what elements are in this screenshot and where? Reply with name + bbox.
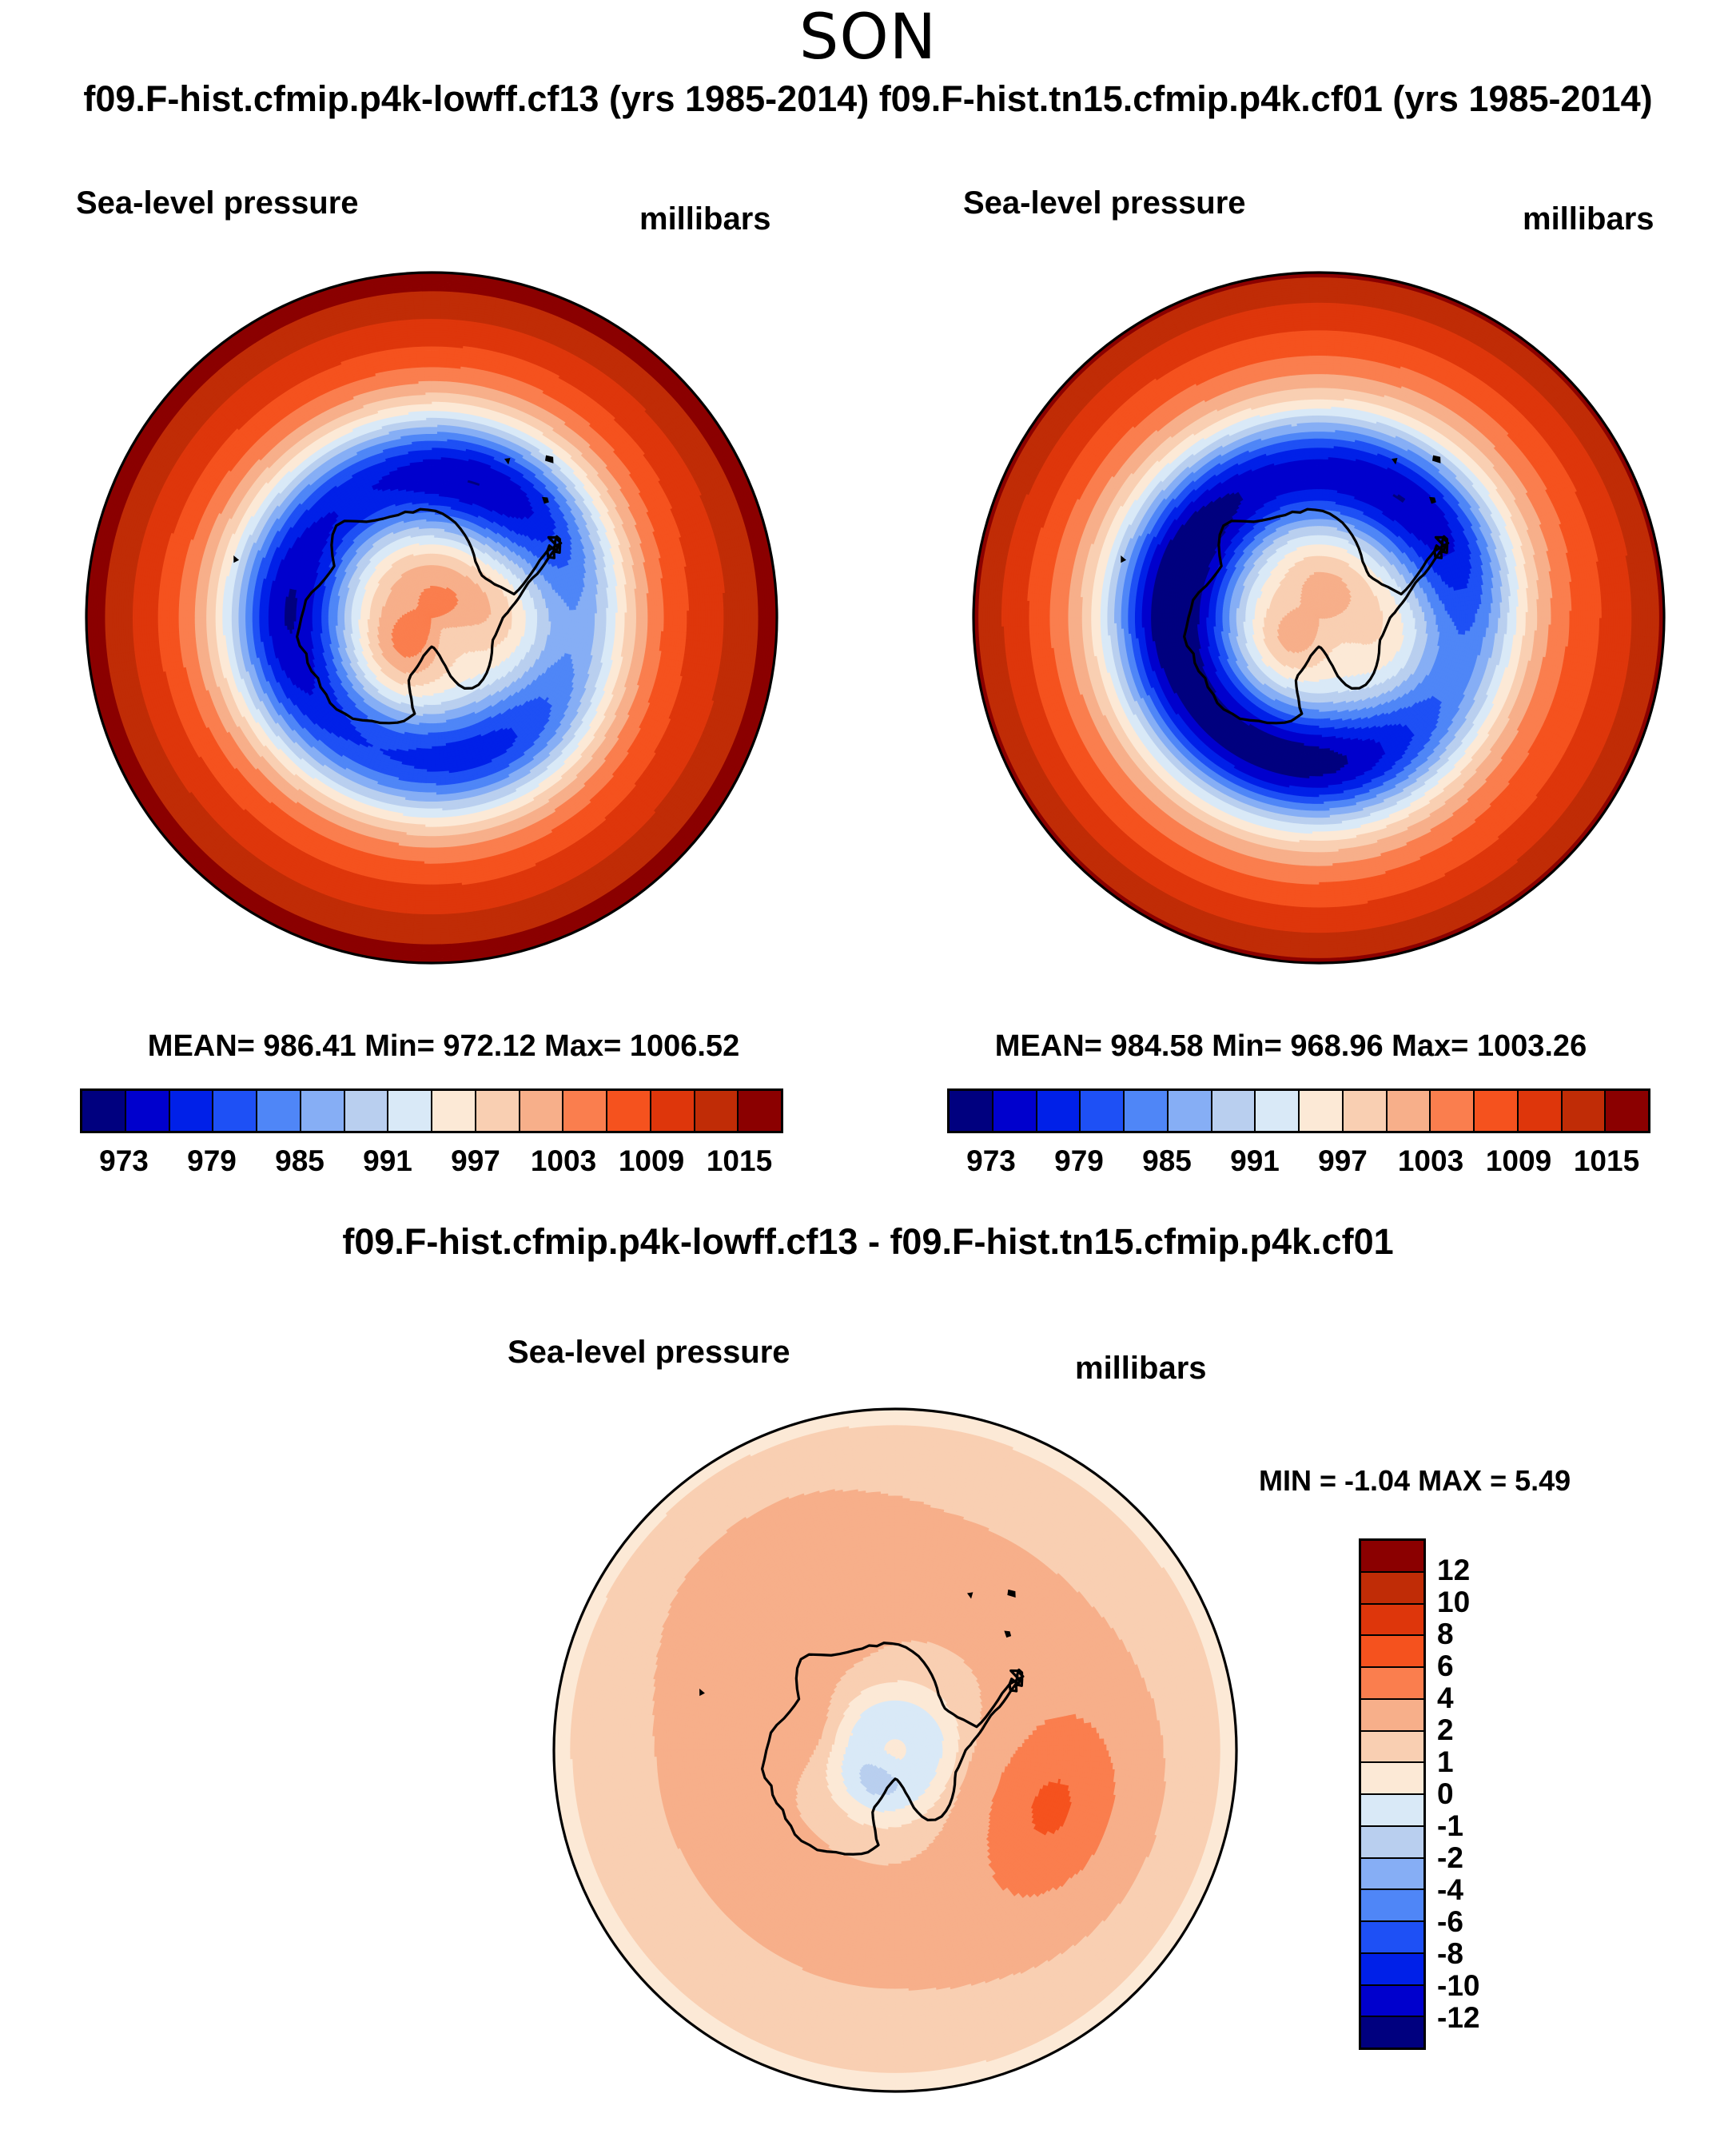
island-outline — [1005, 1632, 1010, 1637]
colorbar-cell — [432, 1091, 476, 1131]
colorbar-tick-label: 0 — [1437, 1777, 1454, 1811]
colorbar-cell — [1519, 1091, 1563, 1131]
map-left-canvas — [84, 270, 779, 965]
colorbar-tick-label: 997 — [451, 1144, 500, 1178]
colorbar-cell — [1361, 1573, 1423, 1605]
colorbar-cell — [301, 1091, 345, 1131]
colorbar-cell — [1361, 1890, 1423, 1922]
colorbar-tick-label: -8 — [1437, 1937, 1463, 1971]
colorbar-tick-label: -10 — [1437, 1969, 1479, 2003]
colorbar-cell — [1361, 1668, 1423, 1700]
colorbar-cell — [1300, 1091, 1344, 1131]
colorbar-cell — [1361, 1732, 1423, 1764]
colorbar-cell — [1361, 1954, 1423, 1986]
colorbar-tick-label: 4 — [1437, 1681, 1454, 1715]
colorbar-cell — [1125, 1091, 1169, 1131]
left-colorbar[interactable]: 973979985991997100310091015 — [80, 1088, 783, 1186]
colorbar-tick-label: 985 — [1142, 1144, 1192, 1178]
colorbar-cell — [1361, 1795, 1423, 1827]
difference-colorbar-labels: 1210864210-1-2-4-6-8-10-12 — [1426, 1538, 1522, 2050]
colorbar-tick-label: 8 — [1437, 1618, 1454, 1651]
colorbar-cell — [1475, 1091, 1519, 1131]
left-polar-map[interactable] — [84, 270, 779, 965]
colorbar-tick-label: 973 — [99, 1144, 149, 1178]
colorbar-tick-label: 973 — [966, 1144, 1016, 1178]
colorbar-tick-label: -2 — [1437, 1841, 1463, 1875]
colorbar-cell — [993, 1091, 1037, 1131]
colorbar-cell — [695, 1091, 739, 1131]
island-outline — [546, 456, 552, 462]
colorbar-tick-label: -1 — [1437, 1809, 1463, 1843]
season-title: SON — [0, 2, 1736, 74]
colorbar-cell — [388, 1091, 432, 1131]
colorbar-cell — [1361, 1636, 1423, 1668]
difference-polar-map[interactable] — [551, 1407, 1239, 2094]
colorbar-tick-label: 1003 — [531, 1144, 596, 1178]
colorbar-cell — [1563, 1091, 1607, 1131]
colorbar-cell — [1081, 1091, 1125, 1131]
colorbar-cell — [1361, 1605, 1423, 1637]
colorbar-cell — [950, 1091, 993, 1131]
right-colorbar-labels: 973979985991997100310091015 — [947, 1144, 1650, 1186]
diff-panel-units-label: millibars — [1075, 1351, 1207, 1387]
colorbar-tick-label: 997 — [1318, 1144, 1368, 1178]
colorbar-cell — [1361, 1827, 1423, 1859]
colorbar-cell — [1361, 1859, 1423, 1891]
colorbar-tick-label: 1015 — [1574, 1144, 1639, 1178]
left-colorbar-cells — [80, 1088, 783, 1133]
colorbar-cell — [1344, 1091, 1388, 1131]
colorbar-cell — [1212, 1091, 1256, 1131]
island-outline — [1433, 456, 1439, 462]
difference-colorbar[interactable]: 1210864210-1-2-4-6-8-10-12 — [1359, 1538, 1522, 2050]
colorbar-cell — [520, 1091, 564, 1131]
colorbar-tick-label: 991 — [363, 1144, 412, 1178]
colorbar-tick-label: 991 — [1230, 1144, 1280, 1178]
colorbar-cell — [82, 1091, 126, 1131]
left-panel-units-label: millibars — [639, 201, 771, 237]
left-colorbar-labels: 973979985991997100310091015 — [80, 1144, 783, 1186]
island-outline — [1431, 498, 1435, 503]
island-outline — [1009, 1590, 1015, 1596]
colorbar-cell — [476, 1091, 520, 1131]
colorbar-cell — [1361, 1986, 1423, 2018]
colorbar-cell — [1431, 1091, 1475, 1131]
difference-title: f09.F-hist.cfmip.p4k-lowff.cf13 - f09.F-… — [0, 1221, 1736, 1263]
diff-minmax-label: MIN = -1.04 MAX = 5.49 — [1259, 1464, 1571, 1498]
colorbar-cell — [1256, 1091, 1300, 1131]
colorbar-tick-label: -6 — [1437, 1905, 1463, 1939]
right-polar-map[interactable] — [971, 270, 1666, 965]
colorbar-cell — [1606, 1091, 1648, 1131]
island-outline — [543, 498, 548, 503]
colorbar-tick-label: 1009 — [619, 1144, 684, 1178]
colorbar-cell — [257, 1091, 301, 1131]
colorbar-cell — [739, 1091, 781, 1131]
colorbar-cell — [1037, 1091, 1081, 1131]
right-panel-variable-label: Sea-level pressure — [963, 185, 1246, 221]
colorbar-cell — [1169, 1091, 1212, 1131]
colorbar-cell — [1361, 1700, 1423, 1732]
left-panel-variable-label: Sea-level pressure — [76, 185, 359, 221]
colorbar-tick-label: 1 — [1437, 1745, 1454, 1779]
colorbar-cell — [1361, 2017, 1423, 2048]
colorbar-tick-label: 6 — [1437, 1650, 1454, 1683]
colorbar-cell — [1361, 1763, 1423, 1795]
right-panel-units-label: millibars — [1523, 201, 1654, 237]
colorbar-cell — [1361, 1541, 1423, 1573]
colorbar-tick-label: -12 — [1437, 2001, 1479, 2035]
colorbar-tick-label: 1003 — [1398, 1144, 1463, 1178]
colorbar-tick-label: 2 — [1437, 1713, 1454, 1747]
map-right-canvas — [971, 270, 1666, 965]
colorbar-cell — [563, 1091, 607, 1131]
right-colorbar-cells — [947, 1088, 1650, 1133]
right-panel-stats: MEAN= 984.58 Min= 968.96 Max= 1003.26 — [911, 1029, 1670, 1064]
colorbar-tick-label: 1015 — [707, 1144, 772, 1178]
colorbar-cell — [170, 1091, 214, 1131]
colorbar-cell — [1361, 1922, 1423, 1954]
colorbar-tick-label: 10 — [1437, 1586, 1470, 1619]
colorbar-cell — [1388, 1091, 1431, 1131]
colorbar-tick-label: 979 — [1054, 1144, 1104, 1178]
case-names-subtitle: f09.F-hist.cfmip.p4k-lowff.cf13 (yrs 198… — [0, 78, 1736, 120]
colorbar-cell — [607, 1091, 651, 1131]
colorbar-cell — [345, 1091, 389, 1131]
difference-colorbar-cells — [1359, 1538, 1426, 2050]
colorbar-tick-label: 12 — [1437, 1554, 1470, 1587]
map-diff-canvas — [551, 1407, 1239, 2094]
colorbar-tick-label: 979 — [187, 1144, 237, 1178]
colorbar-cell — [651, 1091, 695, 1131]
diff-panel-variable-label: Sea-level pressure — [508, 1335, 790, 1371]
right-colorbar[interactable]: 973979985991997100310091015 — [947, 1088, 1650, 1186]
colorbar-tick-label: 1009 — [1486, 1144, 1551, 1178]
colorbar-tick-label: 985 — [275, 1144, 325, 1178]
colorbar-tick-label: -4 — [1437, 1873, 1463, 1907]
colorbar-cell — [126, 1091, 170, 1131]
colorbar-cell — [213, 1091, 257, 1131]
left-panel-stats: MEAN= 986.41 Min= 972.12 Max= 1006.52 — [64, 1029, 823, 1064]
